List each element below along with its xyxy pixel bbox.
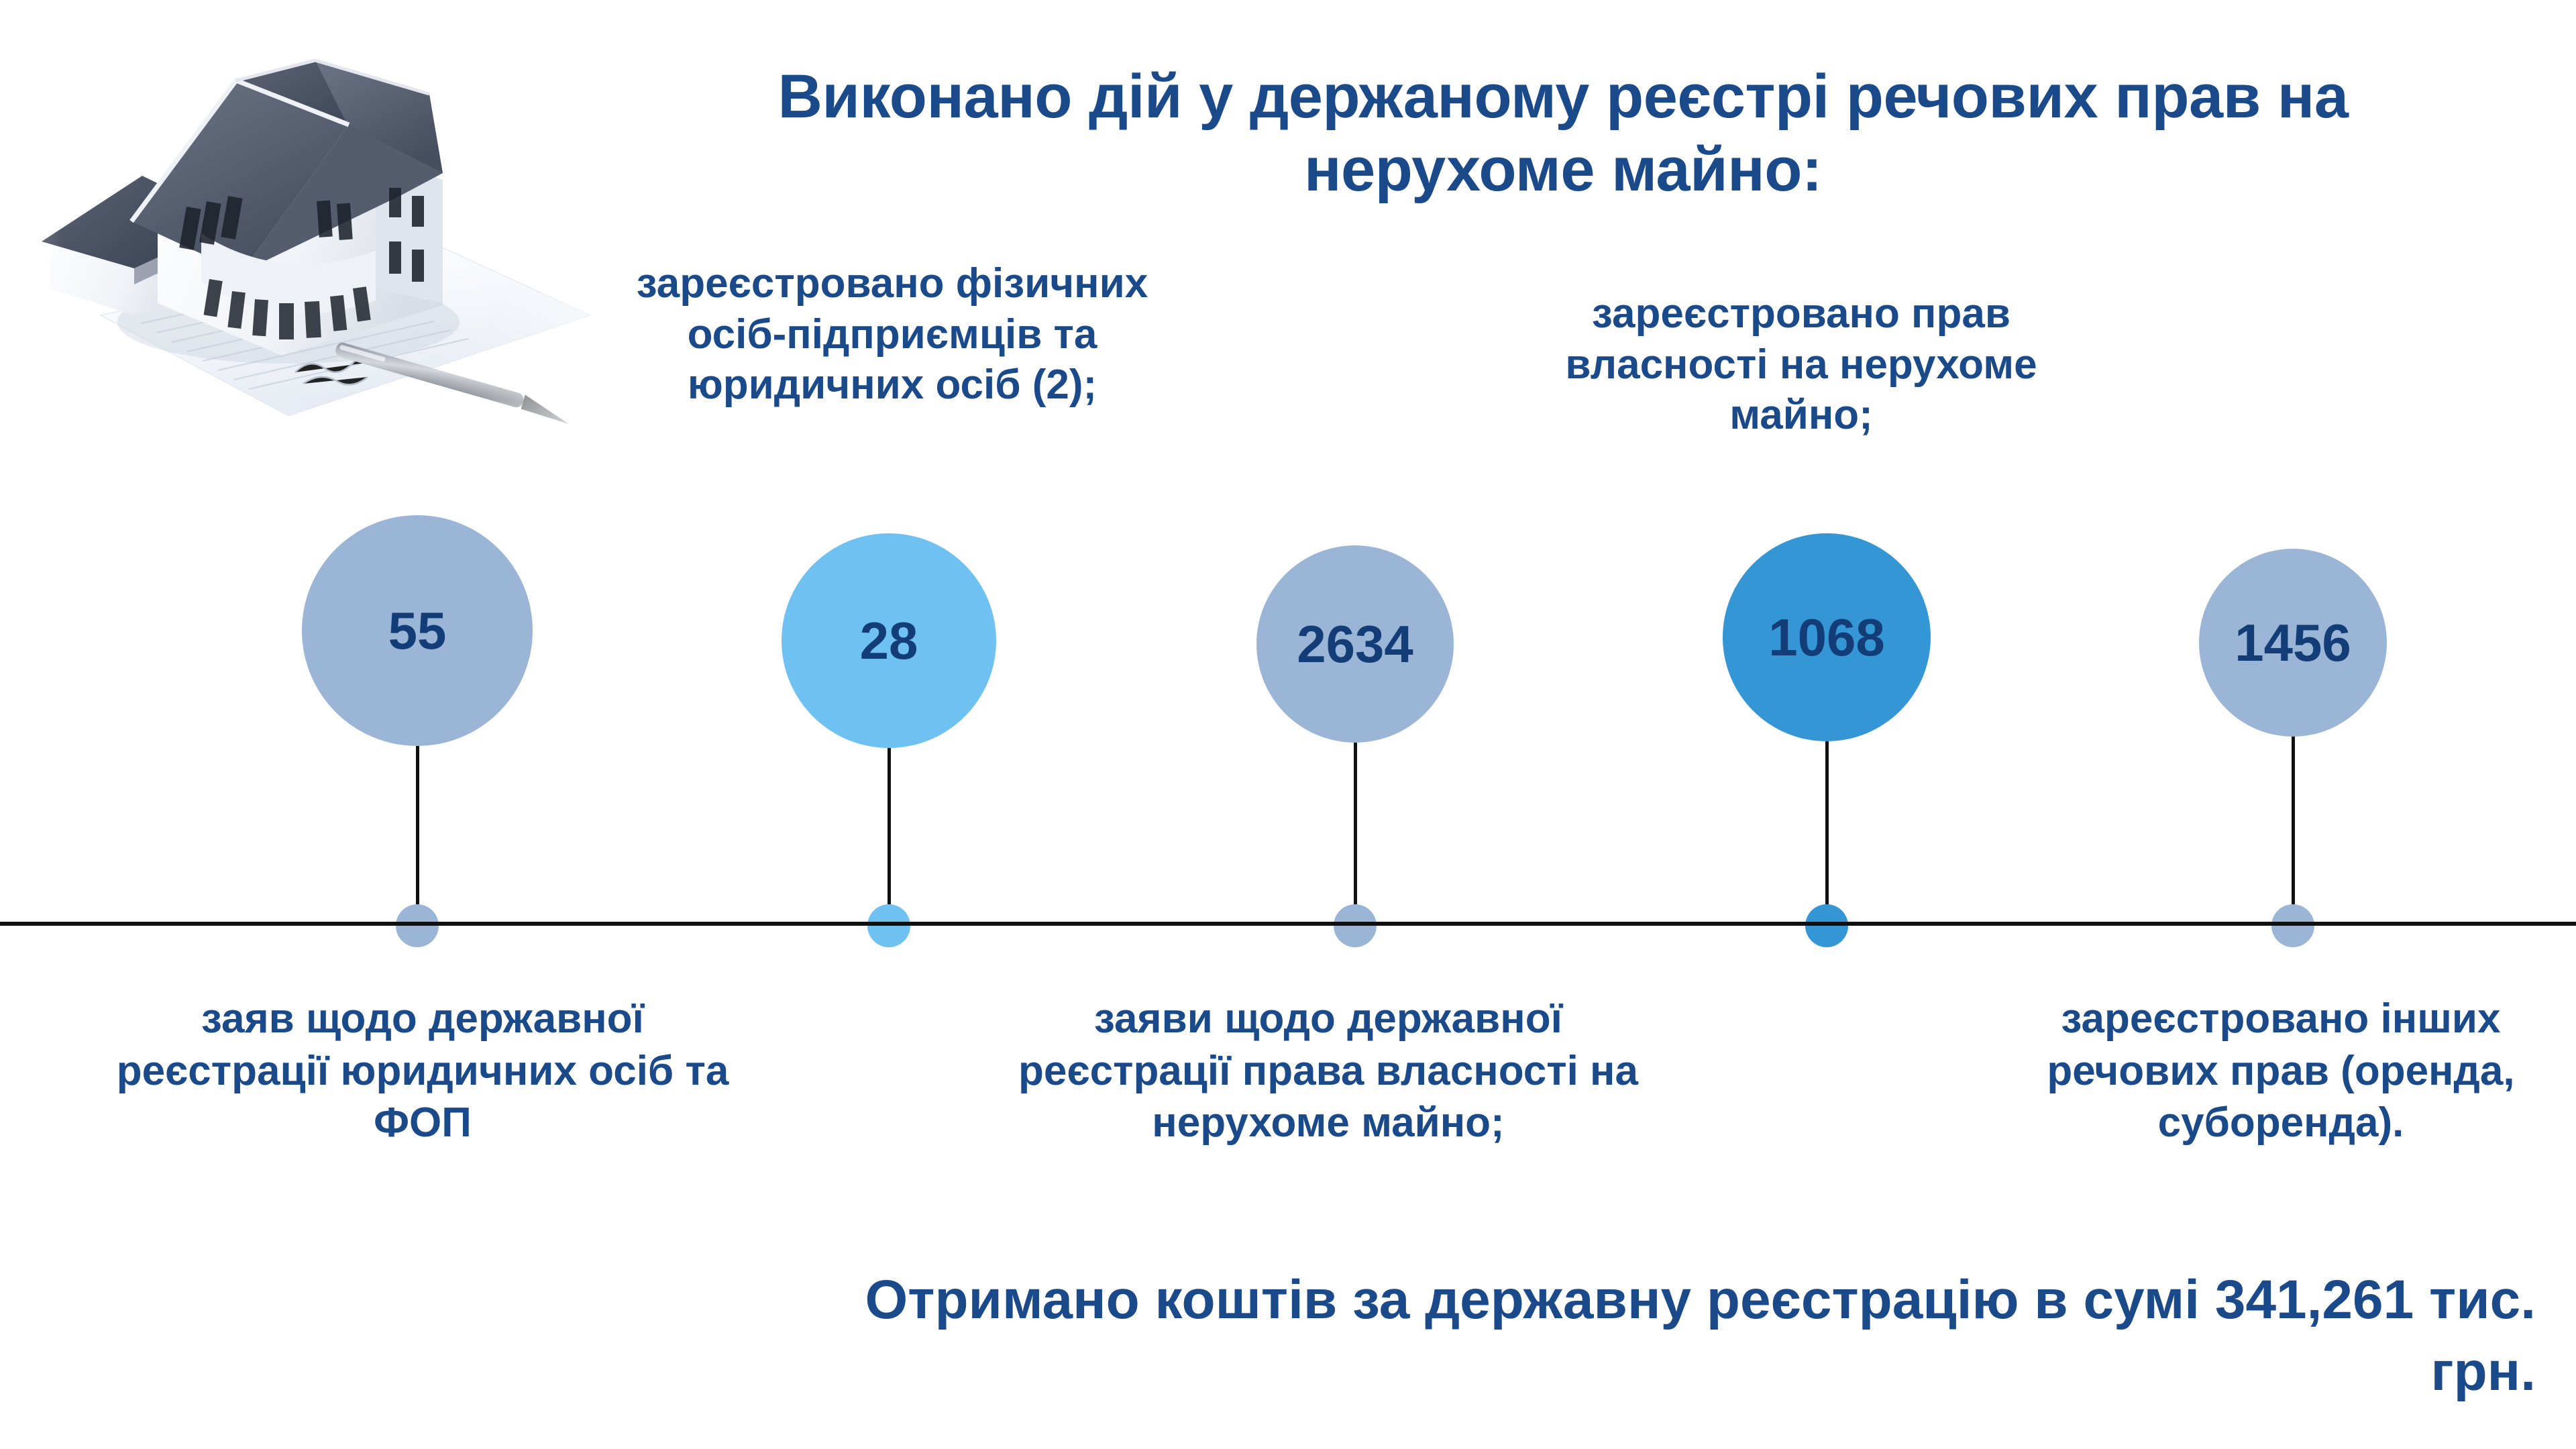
timeline-node-dot: [396, 904, 439, 947]
connector-stem: [2292, 737, 2295, 924]
value-bubble: 1068: [1723, 533, 1931, 741]
footer-total-funds: Отримано коштів за державну реєстрацію в…: [792, 1265, 2536, 1407]
value-bubble: 1456: [2199, 549, 2387, 737]
value-bubble: 55: [302, 515, 533, 746]
value-bubble: 28: [782, 533, 996, 748]
connector-stem: [1354, 743, 1357, 924]
caption-bottom-ownership-applications: заяви щодо державної реєстрації права вл…: [1000, 993, 1657, 1149]
caption-top-ownership-rights: зареєстровано прав власності на нерухоме…: [1536, 288, 2066, 441]
timeline-node-dot: [867, 904, 910, 947]
infographic-canvas: Виконано дій у держаному реєстрі речових…: [0, 0, 2576, 1449]
house-on-document-photo: [0, 0, 590, 443]
connector-stem: [1825, 741, 1829, 924]
connector-stem: [888, 748, 891, 924]
timeline-node-dot: [1334, 904, 1377, 947]
caption-top-fop-legal-entities: зареєстровано фізичних осіб-підприємців …: [624, 258, 1161, 411]
caption-bottom-legal-entity-applications: заяв щодо державної реєстрації юридичних…: [101, 993, 745, 1149]
timeline-axis: [0, 922, 2576, 926]
value-bubble: 2634: [1256, 545, 1454, 743]
timeline-node-dot: [1805, 904, 1848, 947]
timeline-node-dot: [2271, 904, 2314, 947]
page-title: Виконано дій у держаному реєстрі речових…: [684, 60, 2442, 206]
caption-bottom-other-rights: зареєстровано інших речових прав (оренда…: [1972, 993, 2576, 1149]
connector-stem: [416, 746, 419, 924]
